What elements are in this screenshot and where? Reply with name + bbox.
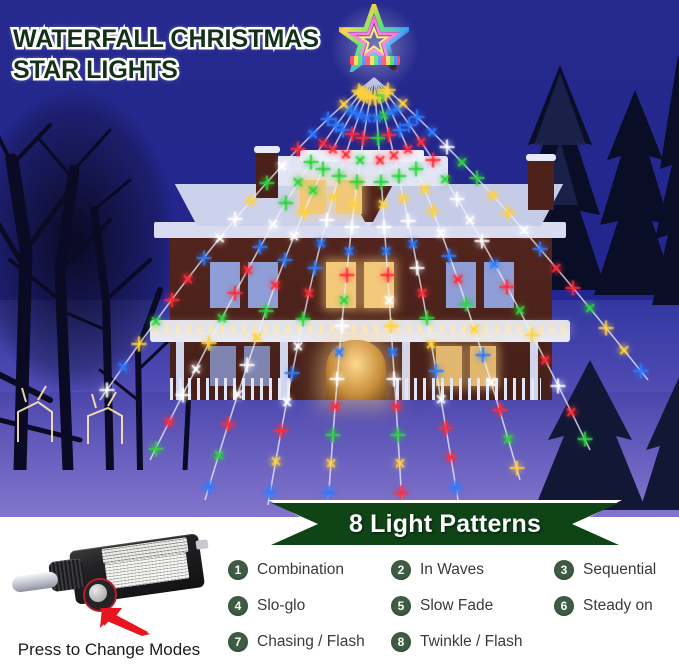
pattern-item: 1Combination: [228, 560, 344, 580]
light-bulb: [291, 372, 294, 375]
light-bulb: [491, 194, 494, 197]
light-bulb: [388, 299, 391, 302]
light-bulb: [319, 242, 322, 245]
light-bulb: [430, 130, 433, 133]
light-bulb: [259, 245, 262, 248]
light-bulb: [456, 198, 459, 201]
pattern-label: Slo-glo: [257, 597, 305, 615]
pattern-number-badge: 4: [228, 596, 248, 616]
light-bulb: [345, 274, 348, 277]
pattern-item: 6Steady on: [554, 596, 653, 616]
light-bulb: [390, 324, 393, 327]
light-bulb: [507, 211, 510, 214]
pattern-number-badge: 6: [554, 596, 574, 616]
light-bulb: [375, 116, 378, 119]
light-bulb: [311, 132, 314, 135]
light-patterns-banner: 8 Light Patterns: [268, 500, 622, 548]
pattern-number-badge: 7: [228, 632, 248, 652]
light-bulb: [331, 196, 334, 199]
light-bulb: [265, 309, 268, 312]
light-bulb: [468, 218, 471, 221]
light-bulb: [507, 437, 510, 440]
pattern-number-badge: 2: [391, 560, 411, 580]
light-bulb: [493, 262, 496, 265]
light-bulb: [544, 358, 547, 361]
light-bulb: [122, 365, 125, 368]
light-bulb: [296, 344, 299, 347]
light-bulb: [249, 199, 252, 202]
light-bulb: [335, 124, 338, 127]
light-bulb: [218, 237, 221, 240]
light-bulb: [255, 336, 258, 339]
light-bulb: [377, 137, 380, 140]
light-bulb: [440, 231, 443, 234]
pattern-label: Slow Fade: [420, 597, 493, 615]
light-bulb: [329, 462, 332, 465]
light-bulb: [202, 257, 205, 260]
pattern-number-badge: 3: [554, 560, 574, 580]
pattern-label: Twinkle / Flash: [420, 633, 523, 651]
light-bulb: [362, 137, 365, 140]
title-line-2-stroke: STAR LIGHTS: [13, 56, 178, 84]
light-bulb: [227, 423, 230, 426]
light-bulb: [430, 343, 433, 346]
light-bulb: [383, 114, 386, 117]
light-bulb: [456, 278, 459, 281]
light-bulb: [322, 142, 325, 145]
light-bulb: [356, 180, 359, 183]
pattern-label: Chasing / Flash: [257, 633, 365, 651]
light-bulb: [411, 242, 414, 245]
light-bulb: [274, 460, 277, 463]
light-bulb: [398, 462, 401, 465]
light-bulb: [380, 180, 383, 183]
light-bulb: [583, 438, 586, 441]
light-bulb: [281, 164, 284, 167]
light-bulb: [420, 140, 423, 143]
light-bulb: [325, 219, 328, 222]
light-bulb: [622, 348, 625, 351]
light-bulb: [387, 89, 390, 92]
controller-caption: Press to Change Modes: [0, 640, 218, 660]
pattern-item: 8Twinkle / Flash: [391, 632, 523, 652]
light-bulb: [297, 180, 300, 183]
light-bulb: [473, 328, 476, 331]
light-bulb: [555, 267, 558, 270]
light-bulb: [348, 249, 351, 252]
light-bulb: [272, 223, 275, 226]
light-bulb: [385, 249, 388, 252]
pattern-item: 4Slo-glo: [228, 596, 305, 616]
light-bulb: [269, 491, 272, 494]
light-bulb: [408, 123, 411, 126]
light-bulb: [221, 316, 224, 319]
light-bulb: [293, 234, 296, 237]
light-bulb: [334, 405, 337, 408]
light-bulb: [246, 364, 249, 367]
light-bulb: [460, 161, 463, 164]
light-bulb: [490, 381, 493, 384]
light-bulb: [383, 226, 386, 229]
light-bulb: [344, 153, 347, 156]
light-bulb: [365, 116, 368, 119]
pattern-number-badge: 1: [228, 560, 248, 580]
light-bulb: [353, 203, 356, 206]
light-bulb: [423, 188, 426, 191]
pattern-item: 5Slow Fade: [391, 596, 493, 616]
pattern-label: Steady on: [583, 597, 653, 615]
light-bulb: [168, 420, 171, 423]
controller-prong: [195, 539, 208, 550]
light-bulb: [476, 177, 479, 180]
light-bulb: [296, 148, 299, 151]
light-bulb: [398, 129, 401, 132]
pattern-label: Combination: [257, 561, 344, 579]
light-bulb: [181, 394, 184, 397]
light-bulb: [322, 168, 325, 171]
light-bulb: [234, 218, 237, 221]
light-bulb: [570, 410, 573, 413]
light-bulb: [440, 398, 443, 401]
light-bulb: [605, 327, 608, 330]
controller-illustration: [10, 534, 215, 634]
light-bulb: [246, 268, 249, 271]
light-bulb: [358, 113, 361, 116]
light-bulb: [327, 117, 330, 120]
controller-cable: [11, 571, 59, 593]
light-bulb: [465, 302, 468, 305]
light-bulb: [236, 393, 239, 396]
light-bulb: [432, 159, 435, 162]
pattern-label: In Waves: [420, 561, 484, 579]
light-bulb: [350, 226, 353, 229]
light-bulb: [406, 148, 409, 151]
light-bulb: [105, 389, 108, 392]
light-bulb: [402, 197, 405, 200]
pattern-item: 2In Waves: [391, 560, 484, 580]
light-bulb: [343, 299, 346, 302]
light-bulb: [523, 229, 526, 232]
light-bulb: [186, 277, 189, 280]
mode-button[interactable]: [89, 584, 107, 602]
light-bulb: [435, 370, 438, 373]
light-bulb: [425, 317, 428, 320]
light-bulb: [381, 203, 384, 206]
product-title: WATERFALL CHRISTMAS STAR LIGHTS: [13, 24, 373, 85]
product-image: 8 Light Patterns WATERFALL CHRISTMAS STA…: [0, 0, 679, 669]
light-bulb: [557, 384, 560, 387]
banner-title: 8 Light Patterns: [268, 500, 622, 548]
light-bulb: [359, 158, 362, 161]
light-bulb: [416, 116, 419, 119]
pattern-label: Sequential: [583, 561, 656, 579]
pattern-number-badge: 8: [391, 632, 411, 652]
light-bulb: [194, 367, 197, 370]
light-bulb: [285, 400, 288, 403]
light-bulb: [397, 175, 400, 178]
red-arrow-icon: [98, 606, 152, 636]
light-bulb: [401, 102, 404, 105]
light-bulb: [481, 354, 484, 357]
light-bulb: [449, 456, 452, 459]
light-bulb: [421, 291, 424, 294]
light-bulb: [154, 320, 157, 323]
pattern-item: 3Sequential: [554, 560, 656, 580]
light-bulb: [274, 283, 277, 286]
light-bulb: [391, 350, 394, 353]
light-bulb: [217, 454, 220, 457]
light-bulb: [338, 174, 341, 177]
light-bulb: [312, 189, 315, 192]
title-line-1-stroke: WATERFALL CHRISTMAS: [13, 25, 319, 53]
pattern-item: 7Chasing / Flash: [228, 632, 365, 652]
light-bulb: [342, 103, 345, 106]
light-bulb: [307, 291, 310, 294]
light-bulb: [338, 350, 341, 353]
pattern-list: 1Combination2In Waves3Sequential4Slo-glo…: [228, 560, 679, 665]
light-bulb: [518, 309, 521, 312]
light-bulb: [407, 219, 410, 222]
light-bulb: [351, 133, 354, 136]
light-bulb: [588, 306, 591, 309]
light-bulb: [531, 333, 534, 336]
light-bulb: [395, 405, 398, 408]
pattern-number-badge: 5: [391, 596, 411, 616]
light-bulb: [392, 154, 395, 157]
light-bulb: [444, 178, 447, 181]
light-bulb: [331, 148, 334, 151]
light-bulb: [378, 158, 381, 161]
